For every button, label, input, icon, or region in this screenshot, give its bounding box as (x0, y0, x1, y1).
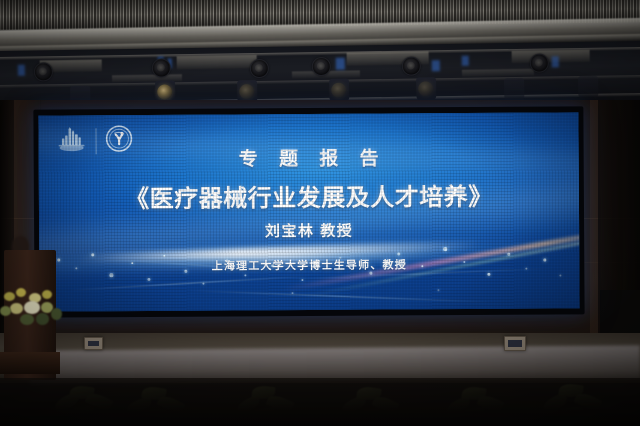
led-screen-display: 专 题 报 告 《医疗器械行业发展及人才培养》 刘宝林 教授 上海理工大学大学博… (38, 112, 579, 311)
bokeh-particle (437, 289, 439, 291)
slide-affiliation: 上海理工大学大学博士生导师、教授 (39, 255, 579, 274)
led-screen-frame: 专 题 报 告 《医疗器械行业发展及人才培养》 刘宝林 教授 上海理工大学大学博… (33, 106, 584, 317)
bokeh-particle (202, 283, 204, 285)
conference-stage-photo: 专 题 报 告 《医疗器械行业发展及人才培养》 刘宝林 教授 上海理工大学大学博… (0, 0, 640, 426)
bokeh-particle (301, 279, 303, 281)
bokeh-particle (559, 274, 561, 276)
stage-light-fixture (250, 59, 269, 78)
slide-title: 《医疗器械行业发展及人才培养》 (39, 176, 579, 214)
stage-light-fixture (530, 53, 549, 72)
slide-text-block: 专 题 报 告 《医疗器械行业发展及人才培养》 刘宝林 教授 上海理工大学大学博… (39, 142, 580, 274)
foreground-shadow (0, 378, 640, 426)
spotlight-housing (504, 78, 524, 102)
stage-light-fixture (402, 56, 421, 75)
lectern-base (0, 352, 60, 374)
slide-heading: 专 题 报 告 (39, 142, 579, 172)
slide-speaker: 刘宝林 教授 (39, 218, 579, 242)
stage-light-fixture (34, 62, 53, 81)
wall-outlet-plate-right (504, 336, 526, 351)
flower-arrangement (0, 286, 68, 328)
spotlight-housing (578, 76, 598, 100)
bokeh-particle (291, 292, 293, 294)
wall-outlet-plate-left (84, 337, 103, 350)
bokeh-particle (487, 273, 490, 276)
bokeh-particle (147, 278, 150, 281)
bokeh-particle (244, 274, 246, 276)
